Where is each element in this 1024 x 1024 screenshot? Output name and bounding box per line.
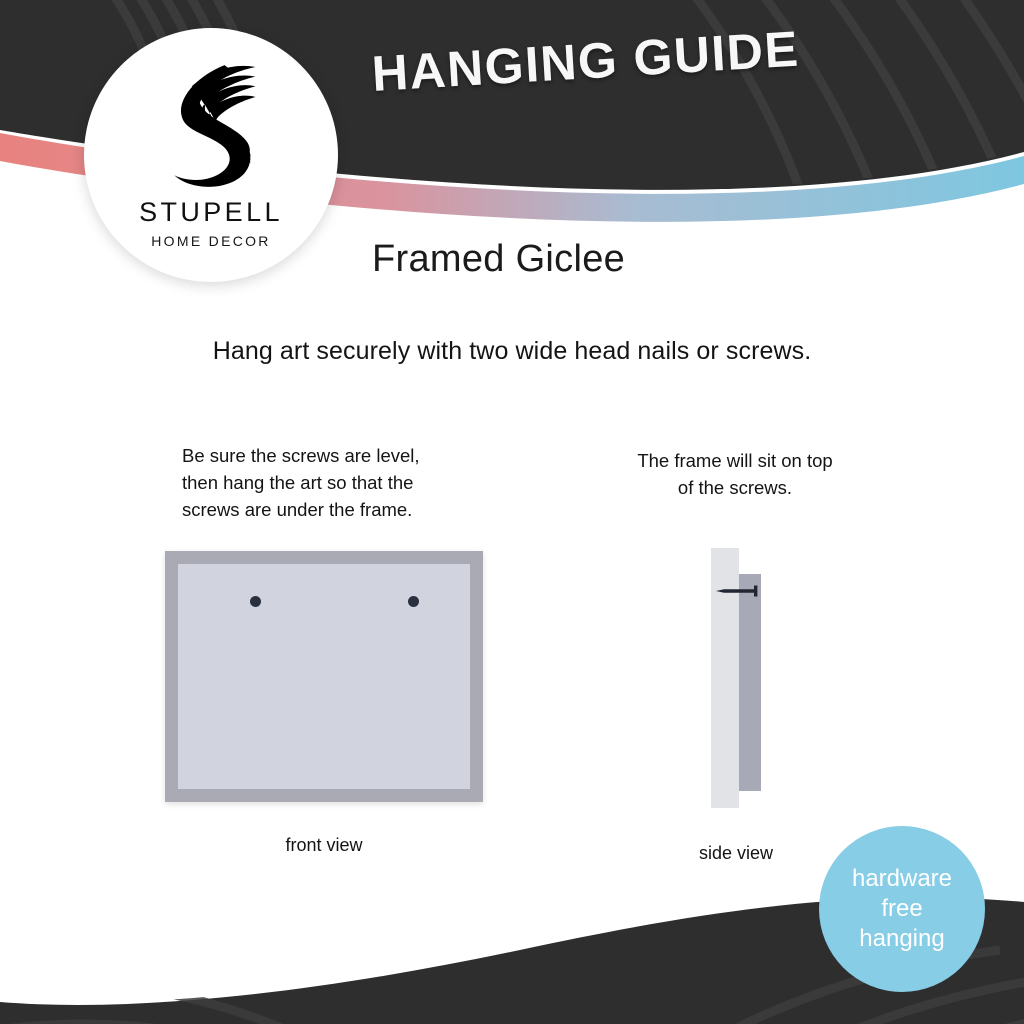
front-caption-line-2: then hang the art so that the xyxy=(182,470,510,497)
hardware-free-hanging-badge: hardware free hanging xyxy=(819,826,985,992)
side-view-label: side view xyxy=(650,843,822,864)
badge-line-3: hanging xyxy=(859,924,944,954)
front-caption-line-1: Be sure the screws are level, xyxy=(182,443,510,470)
front-caption-line-3: screws are under the frame. xyxy=(182,497,510,524)
page-title: HANGING GUIDE xyxy=(370,20,801,103)
side-view-frame xyxy=(739,574,761,791)
side-caption-line-1: The frame will sit on top xyxy=(570,448,900,475)
stupell-swirl-logo-icon xyxy=(153,61,269,189)
side-view-column: The frame will sit on top of the screws. xyxy=(570,448,900,502)
nail-icon xyxy=(715,584,760,598)
badge-line-1: hardware xyxy=(852,864,952,894)
front-view-frame-diagram xyxy=(165,551,483,802)
screw-dot-right-icon xyxy=(408,596,419,607)
brand-logo-badge: STUPELL HOME DECOR xyxy=(84,28,338,282)
front-view-mat xyxy=(178,564,470,789)
badge-line-2: free xyxy=(881,894,922,924)
screw-dot-left-icon xyxy=(250,596,261,607)
product-type-label: Framed Giclee xyxy=(372,238,625,281)
side-view-caption: The frame will sit on top of the screws. xyxy=(570,448,900,502)
hanging-guide-page: HANGING GUIDE STUPELL HOME DECOR Framed … xyxy=(0,0,1024,1024)
front-view-column: Be sure the screws are level, then hang … xyxy=(140,443,510,523)
brand-wordmark: STUPELL xyxy=(139,197,283,228)
front-view-label: front view xyxy=(165,835,483,856)
front-view-caption: Be sure the screws are level, then hang … xyxy=(140,443,510,523)
instruction-lede: Hang art securely with two wide head nai… xyxy=(0,337,1024,366)
side-caption-line-2: of the screws. xyxy=(570,475,900,502)
brand-tagline: HOME DECOR xyxy=(151,233,270,249)
